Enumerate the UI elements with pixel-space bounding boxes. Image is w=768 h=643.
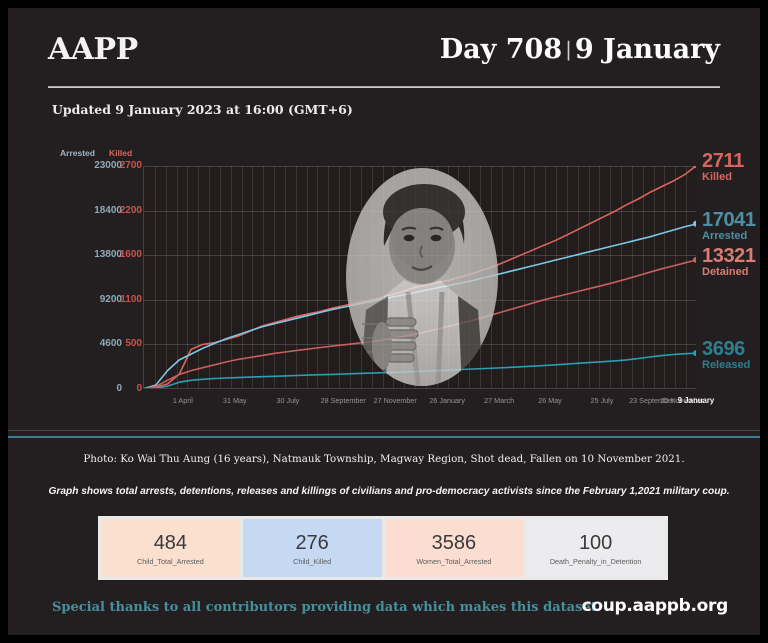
y-axis-right-title: Killed [109, 148, 132, 158]
stat-value: 3586 [432, 531, 477, 555]
x-tick: 26 January [429, 396, 465, 405]
x-tick: 27 November [374, 396, 417, 405]
y-tick-right: 1600 [106, 249, 142, 260]
y-tick-right: 0 [106, 383, 142, 394]
stat-value: 100 [579, 531, 612, 555]
x-tick: 30 July [276, 396, 299, 405]
callout-label: Released [702, 359, 750, 371]
endpoint-marker-detained [693, 257, 696, 263]
stat-key: Death_Penalty_in_Detention [550, 557, 642, 566]
x-tick: 27 March [484, 396, 514, 405]
y-axis-left-title: Arrested [60, 148, 95, 158]
callout-released: 3696Released [702, 340, 750, 371]
callout-detained: 13321Detained [702, 247, 756, 278]
callout-arrested: 17041Arrested [702, 211, 756, 242]
title-separator: | [565, 37, 572, 61]
y-tick-right: 1100 [106, 294, 142, 305]
x-tick: 25 July [591, 396, 614, 405]
endpoint-marker-released [693, 350, 696, 356]
stats-row: 484Child_Total_Arrested276Child_Killed35… [98, 516, 668, 580]
page-title: Day 708|9 January [440, 34, 720, 65]
brand-title: AAPP [48, 32, 138, 67]
y-tick-right: 2200 [106, 205, 142, 216]
report-date: 9 January [575, 34, 720, 65]
stat-key: Child_Total_Arrested [137, 557, 204, 566]
y-tick-right: 500 [106, 338, 142, 349]
callout-value: 3696 [702, 340, 750, 359]
callout-label: Killed [702, 171, 744, 183]
plot-area [143, 166, 696, 389]
section-divider-top [8, 430, 760, 431]
stat-key: Child_Killed [293, 557, 331, 566]
header-divider [48, 86, 720, 88]
stat-card: 276Child_Killed [243, 519, 382, 577]
callout-value: 13321 [702, 247, 756, 266]
website-url: coup.aappb.org [582, 596, 728, 616]
stat-value: 276 [295, 531, 328, 555]
stat-card: 3586Women_Total_Arrested [385, 519, 524, 577]
x-tick: 31 May [223, 396, 247, 405]
updated-timestamp: Updated 9 January 2023 at 16:00 (GMT+6) [52, 102, 353, 117]
thanks-text: Special thanks to all contributors provi… [52, 600, 601, 615]
callout-label: Detained [702, 266, 756, 278]
x-tick: 28 September [321, 396, 366, 405]
victim-photo [346, 168, 498, 386]
graph-caption: Graph shows total arrests, detentions, r… [44, 486, 734, 497]
callout-killed: 2711Killed [702, 152, 744, 183]
day-counter: Day 708 [440, 34, 562, 65]
stat-value: 484 [154, 531, 187, 555]
callout-label: Arrested [702, 230, 756, 242]
stat-key: Women_Total_Arrested [416, 557, 491, 566]
y-tick-right: 2700 [106, 160, 142, 171]
photo-caption: Photo: Ko Wai Thu Aung (16 years), Natma… [8, 453, 760, 465]
callout-value: 17041 [702, 211, 756, 230]
x-tick: 26 May [538, 396, 562, 405]
callout-value: 2711 [702, 152, 744, 171]
endpoint-marker-arrested [693, 221, 696, 227]
section-divider [8, 436, 760, 438]
stat-card: 100Death_Penalty_in_Detention [526, 519, 665, 577]
infographic-card: AAPP Day 708|9 January Updated 9 January… [8, 8, 760, 635]
x-tick: 9 January [678, 396, 714, 405]
x-tick: 1 April [173, 396, 193, 405]
stat-card: 484Child_Total_Arrested [101, 519, 240, 577]
header: AAPP Day 708|9 January [48, 32, 720, 92]
chart: Arrested Killed 046009200138001840023000… [48, 148, 738, 423]
